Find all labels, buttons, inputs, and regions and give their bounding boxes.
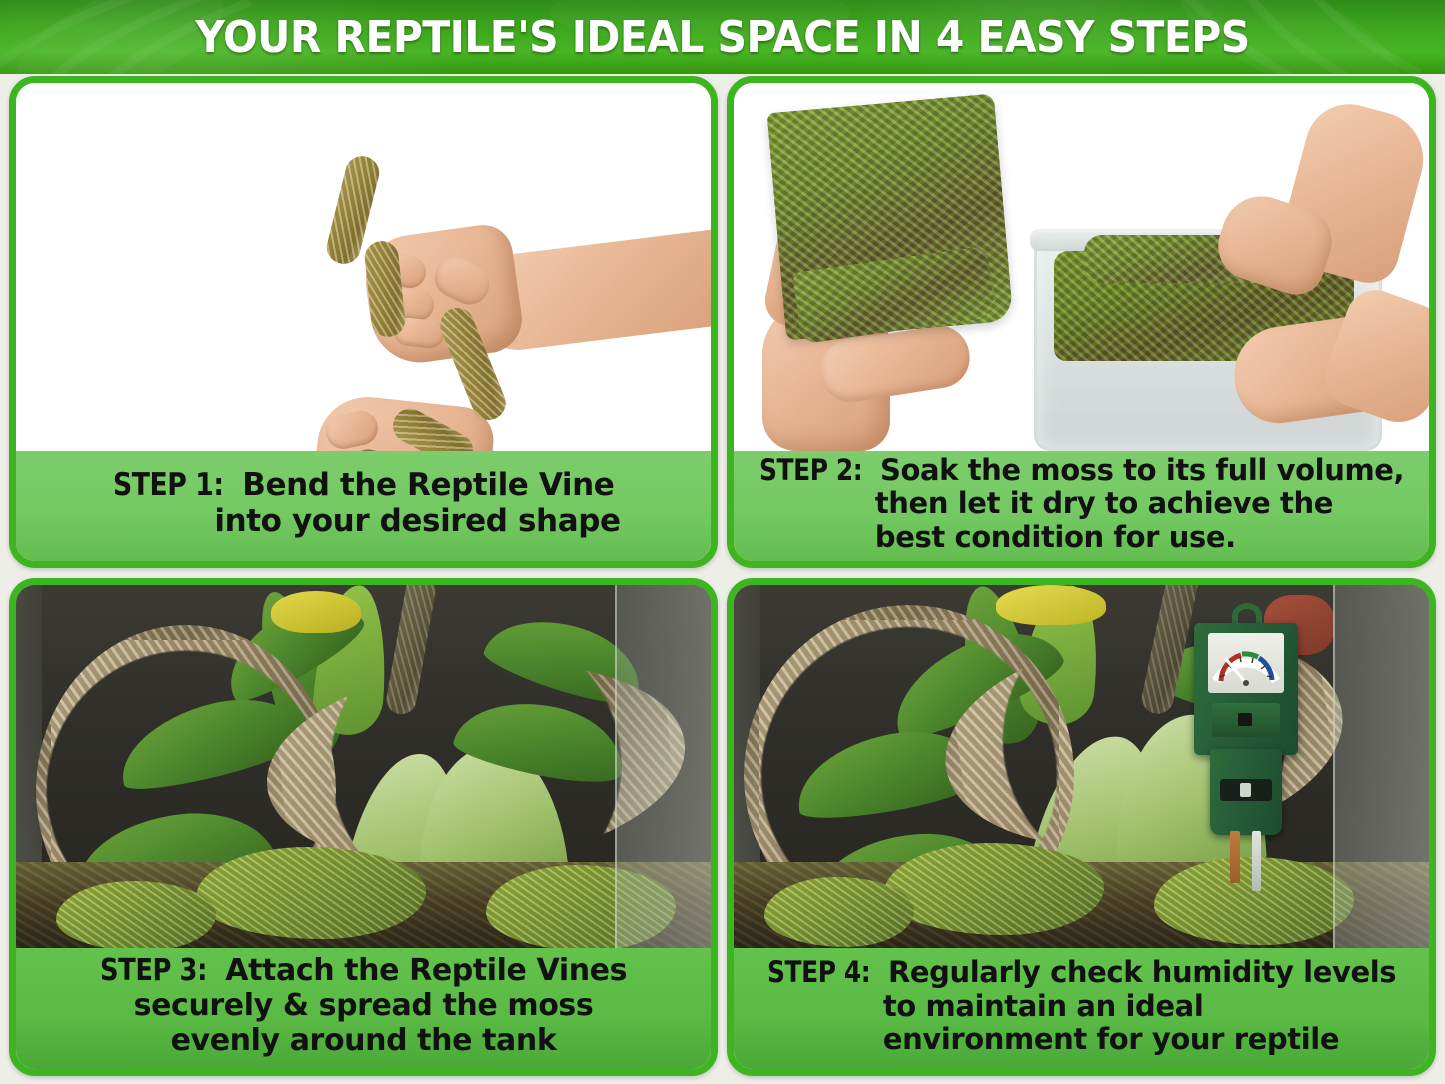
step-card-3: STEP 3:Attach the Reptile Vines securely… <box>9 578 718 1076</box>
step-2-line-2: then let it dry to achieve the <box>875 486 1333 520</box>
header-banner: YOUR REPTILE'S IDEAL SPACE IN 4 EASY STE… <box>0 0 1445 74</box>
step-3-photo <box>16 585 711 948</box>
step-2-line-1: Soak the moss to its full volume, <box>880 453 1404 487</box>
step-3-line-1: Attach the Reptile Vines <box>225 953 627 988</box>
step-card-2: STEP 2:Soak the moss to its full volume,… <box>727 76 1436 568</box>
step-2-caption: STEP 2:Soak the moss to its full volume,… <box>734 451 1429 561</box>
step-3-line-2: securely & spread the moss <box>134 988 594 1023</box>
step-3-tag: STEP 3: <box>100 954 207 989</box>
step-4-line-2: to maintain an ideal <box>883 989 1204 1023</box>
step-4-line-3: environment for your reptile <box>883 1022 1339 1056</box>
humidity-meter-icon <box>1186 603 1306 853</box>
step-4-photo <box>734 585 1429 948</box>
step-1-tag: STEP 1: <box>113 468 224 504</box>
step-2-photo <box>734 83 1429 451</box>
step-4-caption: STEP 4:Regularly check humidity levels t… <box>734 948 1429 1069</box>
step-3-line-3: evenly around the tank <box>171 1023 557 1058</box>
step-2-tag: STEP 2: <box>759 454 862 488</box>
step-1-line-2: into your desired shape <box>214 503 620 539</box>
page-title: YOUR REPTILE'S IDEAL SPACE IN 4 EASY STE… <box>51 0 1395 74</box>
step-4-tag: STEP 4: <box>767 956 870 990</box>
step-2-line-3: best condition for use. <box>875 520 1236 554</box>
step-4-line-1: Regularly check humidity levels <box>888 955 1396 989</box>
step-1-caption: STEP 1:Bend the Reptile Vine into your d… <box>16 451 711 561</box>
step-1-photo <box>16 83 711 451</box>
step-card-4: STEP 4:Regularly check humidity levels t… <box>727 578 1436 1076</box>
step-3-caption: STEP 3:Attach the Reptile Vines securely… <box>16 948 711 1069</box>
step-1-line-1: Bend the Reptile Vine <box>242 467 614 503</box>
step-card-1: STEP 1:Bend the Reptile Vine into your d… <box>9 76 718 568</box>
